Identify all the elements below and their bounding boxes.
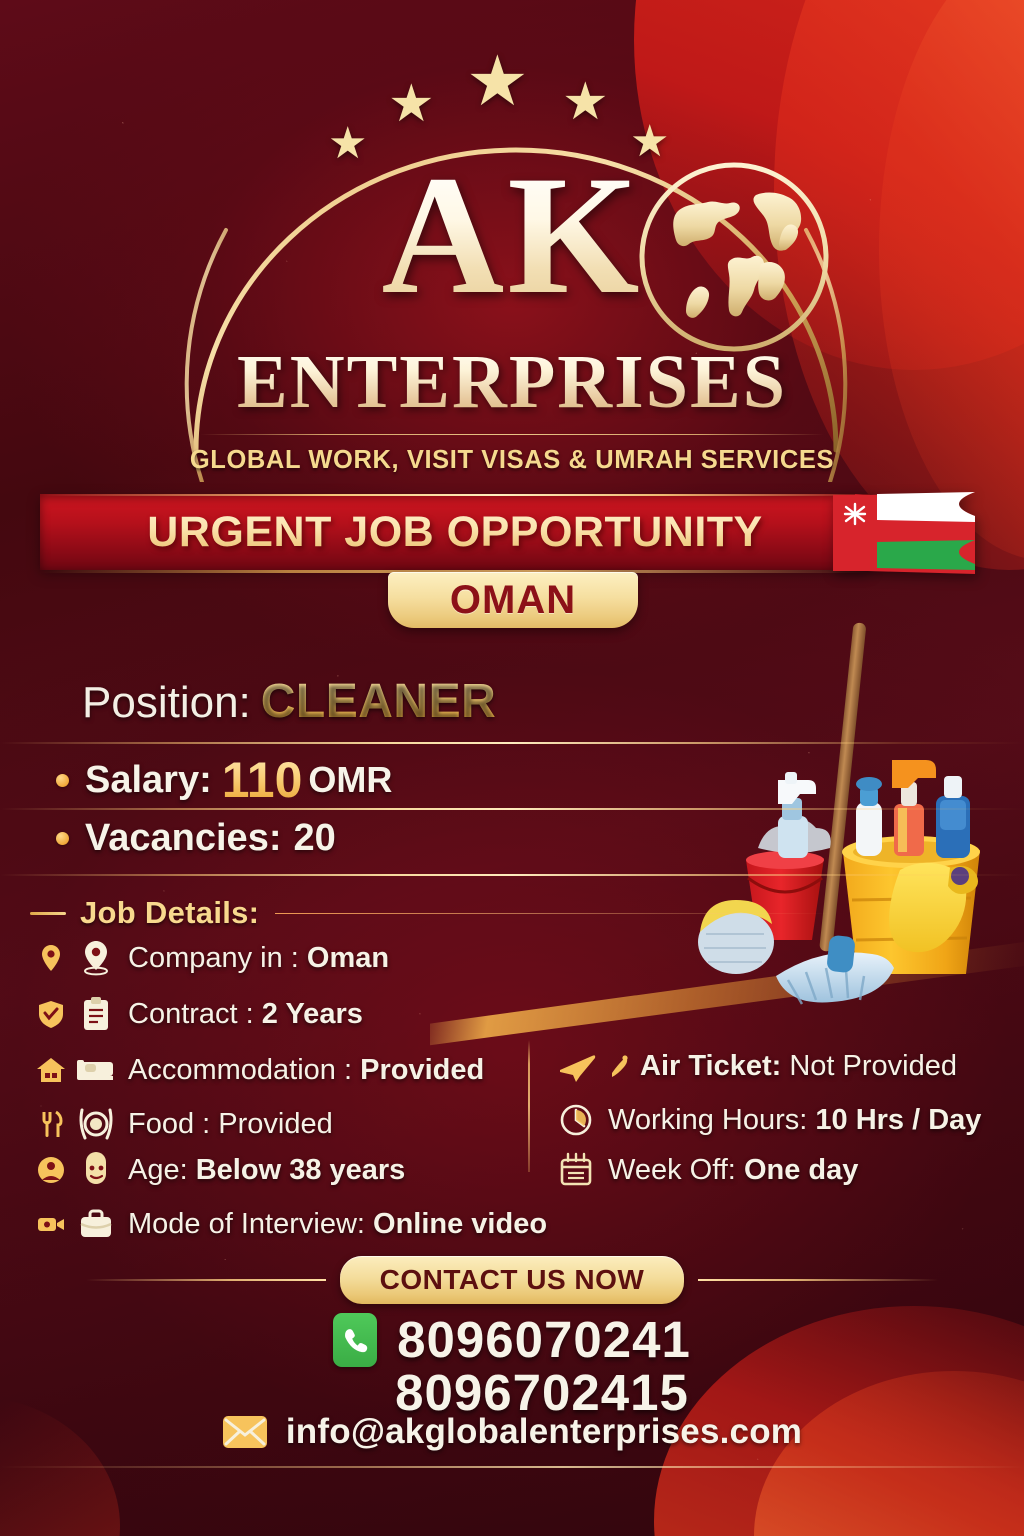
job-details-title: Job Details: xyxy=(80,895,259,931)
detail-text-company: Company in : Oman xyxy=(128,942,389,975)
phone-numbers-block: 8096070241 8096702415 xyxy=(0,1310,1024,1422)
cutlery-icon xyxy=(36,1109,66,1139)
globe-icon xyxy=(636,159,832,355)
divider-line-3 xyxy=(0,874,1024,876)
phone-primary: 8096070241 xyxy=(397,1310,691,1369)
cleaning-supplies-illustration xyxy=(660,620,1024,1020)
brand-name-main-row: AK xyxy=(0,154,1024,317)
vacancies-count: 20 xyxy=(293,817,335,860)
star-icon-3: ★ xyxy=(466,46,529,116)
clipboard-icon xyxy=(76,996,116,1032)
briefcase-icon xyxy=(76,1206,116,1242)
job-details-rule xyxy=(275,913,830,914)
brand-tagline: GLOBAL WORK, VISIT VISAS & UMRAH SERVICE… xyxy=(0,446,1024,475)
divider-line-1 xyxy=(0,742,1024,744)
detail-row-contract: Contract : 2 Years xyxy=(36,996,363,1032)
calendar-icon xyxy=(556,1152,596,1188)
star-icon-2: ★ xyxy=(388,78,435,130)
urgent-job-banner: URGENT JOB OPPORTUNITY xyxy=(40,494,984,570)
envelope-icon xyxy=(222,1415,268,1449)
detail-text-food: Food : Provided xyxy=(128,1108,333,1141)
phone-primary-row[interactable]: 8096070241 xyxy=(0,1310,1024,1369)
salary-row: Salary: 110 OMR xyxy=(56,751,392,809)
bullet-dot-icon xyxy=(56,832,69,845)
face-icon xyxy=(76,1152,116,1188)
airplane-icon xyxy=(556,1048,596,1084)
user-circle-icon xyxy=(36,1155,66,1185)
country-badge-label: OMAN xyxy=(450,578,576,623)
country-badge: OMAN xyxy=(388,572,638,628)
contact-heading: CONTACT US NOW xyxy=(340,1256,685,1304)
company-logo: ★ ★ ★ ★ ★ AK xyxy=(0,14,1024,484)
detail-text-week-off: Week Off: One day xyxy=(608,1154,858,1187)
detail-text-contract: Contract : 2 Years xyxy=(128,998,363,1031)
detail-row-interview-mode: Mode of Interview: Online video xyxy=(36,1206,547,1242)
position-row: Position:CLEANER xyxy=(82,674,496,729)
column-divider xyxy=(528,1040,530,1172)
detail-row-working-hours: Working Hours: 10 Hrs / Day xyxy=(556,1102,981,1138)
contact-heading-row: CONTACT US NOW xyxy=(0,1258,1024,1302)
detail-row-accommodation: Accommodation : Provided xyxy=(36,1052,484,1088)
brand-divider xyxy=(200,434,824,435)
salary-amount: 110 xyxy=(222,751,303,809)
bed-icon xyxy=(76,1052,116,1088)
clock-icon xyxy=(556,1102,596,1138)
brand-name-sub: ENTERPRISES xyxy=(237,344,787,420)
detail-row-company: Company in : Oman xyxy=(36,940,389,976)
position-label: Position: xyxy=(82,678,251,727)
detail-text-accommodation: Accommodation : Provided xyxy=(128,1054,484,1087)
brand-name-sub-row: ENTERPRISES xyxy=(0,344,1024,420)
email-address: info@akglobalenterprises.com xyxy=(286,1412,802,1452)
detail-text-interview-mode: Mode of Interview: Online video xyxy=(128,1208,547,1241)
star-icon-4: ★ xyxy=(562,76,609,128)
salary-currency: OMR xyxy=(308,759,392,801)
contact-rule-left xyxy=(86,1279,326,1281)
job-details-dash xyxy=(30,912,66,915)
bottom-divider xyxy=(0,1466,1024,1468)
position-value: CLEANER xyxy=(261,675,497,728)
salary-label: Salary: xyxy=(85,759,212,802)
job-details-header: Job Details: xyxy=(30,895,830,931)
shield-check-icon xyxy=(36,999,66,1029)
email-row[interactable]: info@akglobalenterprises.com xyxy=(0,1412,1024,1452)
contact-rule-right xyxy=(698,1279,938,1281)
map-marker-icon xyxy=(76,940,116,976)
location-pin-icon xyxy=(36,943,66,973)
detail-text-working-hours: Working Hours: 10 Hrs / Day xyxy=(608,1104,981,1137)
detail-row-food: Food : Provided xyxy=(36,1106,333,1142)
vacancies-row: Vacancies: 20 xyxy=(56,817,336,860)
oman-flag-icon xyxy=(825,490,975,574)
bullet-dot-icon xyxy=(56,774,69,787)
job-advertisement-poster: ★ ★ ★ ★ ★ AK xyxy=(0,0,1024,1536)
phone-icon xyxy=(333,1313,377,1367)
small-plane-icon xyxy=(608,1051,630,1081)
vacancies-label: Vacancies: xyxy=(85,817,281,860)
detail-row-week-off: Week Off: One day xyxy=(556,1152,858,1188)
banner-headline: URGENT JOB OPPORTUNITY xyxy=(40,494,870,570)
home-icon xyxy=(36,1055,66,1085)
detail-text-air-ticket: Air Ticket: Not Provided xyxy=(640,1050,957,1083)
brand-name-main: AK xyxy=(382,154,643,317)
detail-text-age: Age: Below 38 years xyxy=(128,1154,405,1187)
detail-row-air-ticket: Air Ticket: Not Provided xyxy=(556,1048,957,1084)
video-camera-icon xyxy=(36,1209,66,1239)
detail-row-age: Age: Below 38 years xyxy=(36,1152,405,1188)
plate-icon xyxy=(76,1106,116,1142)
